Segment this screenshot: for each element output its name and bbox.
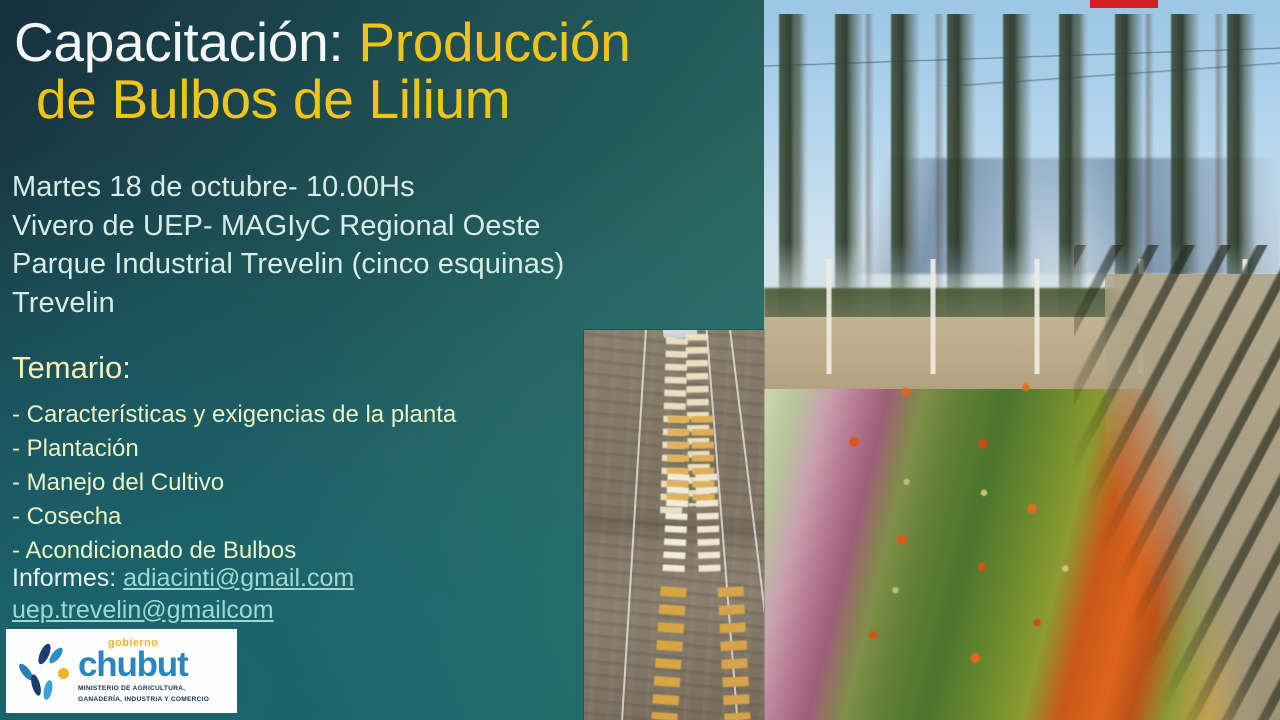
logo-gobierno-label: gobierno [108, 637, 158, 649]
list-item: - Plantación [12, 432, 632, 466]
agenda-list: - Características y exigencias de la pla… [12, 398, 632, 568]
slide-content: Capacitación: Producción de Bulbos de Li… [0, 0, 790, 720]
event-city: Trevelin [12, 284, 782, 323]
photo-power-lines [764, 29, 1280, 87]
event-details: Martes 18 de octubre- 10.00Hs Vivero de … [12, 168, 782, 322]
logo-ministry-line-1: MINISTERIO DE AGRICULTURA, [78, 684, 237, 693]
presentation-slide: Capacitación: Producción de Bulbos de Li… [0, 0, 1280, 720]
lily-field-photo [764, 0, 1280, 720]
logo-chubut-label: chubut [78, 648, 237, 682]
title-highlight: Producción [358, 11, 630, 73]
list-item: - Cosecha [12, 500, 632, 534]
red-accent-bar [1090, 0, 1158, 8]
logo-ministry-line-2: GANADERÍA, INDUSTRIA Y COMERCIO [78, 695, 237, 704]
contact-info: Informes: adiacinti@gmail.com uep.trevel… [12, 563, 532, 626]
event-date: Martes 18 de octubre- 10.00Hs [12, 168, 782, 207]
contact-line-2: uep.trevelin@gmailcom [12, 595, 532, 627]
event-address: Parque Industrial Trevelin (cinco esquin… [12, 245, 782, 284]
photo-orange-lilies [773, 302, 1209, 720]
event-venue: Vivero de UEP- MAGIyC Regional Oeste [12, 207, 782, 246]
email-link-1[interactable]: adiacinti@gmail.com [123, 564, 354, 592]
title-line-2: de Bulbos de Lilium [14, 71, 784, 128]
contact-line-1: Informes: adiacinti@gmail.com [12, 563, 532, 595]
chubut-emblem-icon [14, 640, 76, 702]
agenda-heading: Temario: [12, 352, 131, 383]
email-link-2[interactable]: uep.trevelin@gmailcom [12, 596, 274, 624]
slide-title: Capacitación: Producción de Bulbos de Li… [14, 14, 784, 128]
title-prefix: Capacitación: [14, 11, 358, 73]
contact-label: Informes: [12, 564, 123, 592]
list-item: - Características y exigencias de la pla… [12, 398, 632, 432]
list-item: - Manejo del Cultivo [12, 466, 632, 500]
chubut-government-logo: gobierno chubut MINISTERIO DE AGRICULTUR… [6, 629, 237, 713]
logo-text: gobierno chubut MINISTERIO DE AGRICULTUR… [78, 638, 237, 704]
